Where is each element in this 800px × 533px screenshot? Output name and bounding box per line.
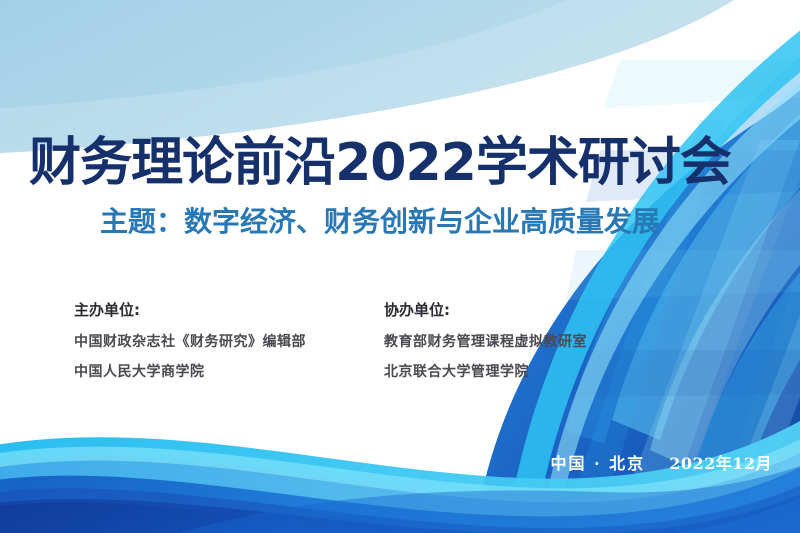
poster-subtitle: 主题：数字经济、财务创新与企业高质量发展 xyxy=(0,207,760,238)
poster-content: 财务理论前沿2022学术研讨会 主题：数字经济、财务创新与企业高质量发展 主办单… xyxy=(0,0,800,533)
host-line-1: 中国财政杂志社《财务研究》编辑部 xyxy=(74,335,384,349)
cohost-line-1: 教育部财务管理课程虚拟教研室 xyxy=(384,335,694,349)
title-block: 财务理论前沿2022学术研讨会 主题：数字经济、财务创新与企业高质量发展 xyxy=(0,136,760,237)
footer-date: 2022年12月 xyxy=(669,450,772,474)
footer-location-date: 中国 · 北京 2022年12月 xyxy=(550,450,772,474)
page-title: 财务理论前沿2022学术研讨会 xyxy=(0,136,760,191)
organizer-column-host: 主办单位: 中国财政杂志社《财务研究》编辑部 中国人民大学商学院 xyxy=(74,303,384,395)
footer-location: 中国 · 北京 xyxy=(550,450,645,474)
cohost-heading: 协办单位: xyxy=(384,303,694,318)
host-line-2: 中国人民大学商学院 xyxy=(74,365,384,379)
organizer-column-cohost: 协办单位: 教育部财务管理课程虚拟教研室 北京联合大学管理学院 xyxy=(384,303,694,395)
organizers-section: 主办单位: 中国财政杂志社《财务研究》编辑部 中国人民大学商学院 协办单位: 教… xyxy=(74,303,694,395)
cohost-line-2: 北京联合大学管理学院 xyxy=(384,365,694,379)
conference-poster: 财务理论前沿2022学术研讨会 主题：数字经济、财务创新与企业高质量发展 主办单… xyxy=(0,0,800,533)
host-heading: 主办单位: xyxy=(74,303,384,318)
